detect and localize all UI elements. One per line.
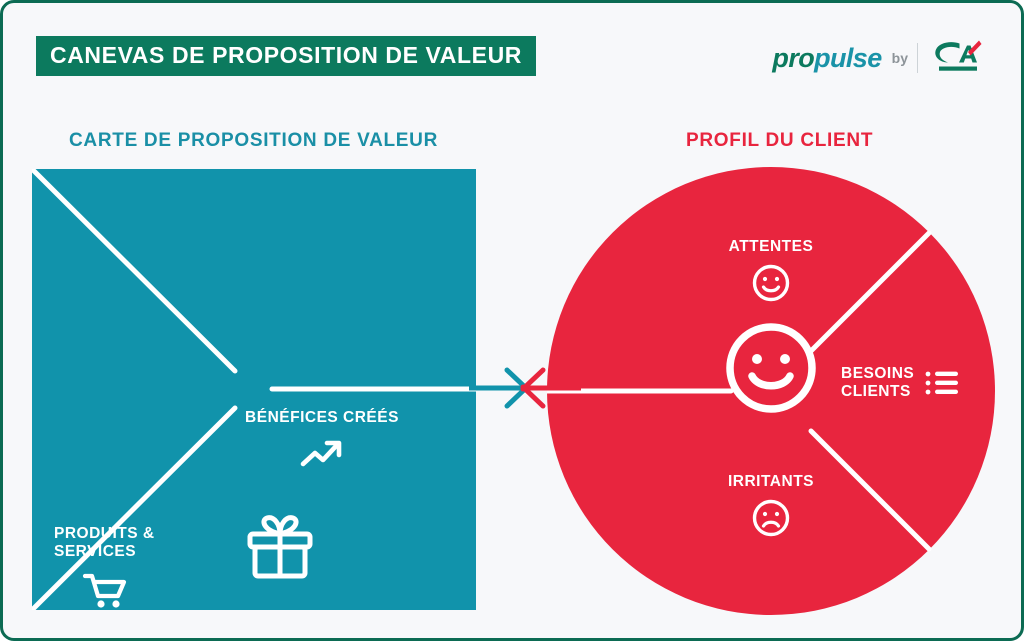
right-arrow-red bbox=[523, 370, 581, 406]
logo-word-pulse: pulse bbox=[814, 43, 882, 73]
credit-agricole-logo-icon bbox=[929, 38, 985, 78]
value-map-item-benefices: BÉNÉFICES CRÉÉS bbox=[214, 409, 430, 470]
customer-profile-item-irritants: IRRITANTS bbox=[661, 473, 881, 538]
customer-profile-label-besoins-clients: BESOINS CLIENTS bbox=[841, 365, 914, 402]
shopping-cart-icon bbox=[82, 571, 128, 611]
smiley-sad-icon bbox=[751, 498, 791, 538]
logo-wordmark: propulse bbox=[772, 45, 881, 72]
logo-word-pro: pro bbox=[772, 43, 814, 73]
section-heading-customer-profile: PROFIL DU CLIENT bbox=[686, 131, 873, 150]
logo-by-label: by bbox=[892, 51, 908, 65]
propulse-logo: propulse by bbox=[772, 36, 985, 80]
trending-up-icon bbox=[299, 436, 345, 470]
infographic-canvas: CANEVAS DE PROPOSITION DE VALEUR propuls… bbox=[0, 0, 1024, 641]
customer-profile-label-attentes: ATTENTES bbox=[729, 238, 814, 256]
section-heading-value-map: CARTE DE PROPOSITION DE VALEUR bbox=[69, 131, 438, 150]
value-map-item-produits-services: PRODUITS & SERVICES bbox=[54, 525, 192, 611]
page-title: CANEVAS DE PROPOSITION DE VALEUR bbox=[50, 44, 522, 67]
smiley-face-icon bbox=[722, 319, 820, 417]
value-proposition-map: BÉNÉFICES CRÉÉS PRODUITS & SERVICES SOLU… bbox=[32, 169, 476, 610]
list-icon bbox=[925, 368, 959, 398]
value-map-label-benefices: BÉNÉFICES CRÉÉS bbox=[245, 409, 399, 427]
gift-icon bbox=[243, 510, 317, 582]
connector-arrows bbox=[469, 359, 581, 417]
value-map-label-produits-services: PRODUITS & SERVICES bbox=[54, 525, 155, 562]
logo-divider bbox=[917, 43, 918, 73]
page-title-banner: CANEVAS DE PROPOSITION DE VALEUR bbox=[36, 36, 536, 76]
customer-profile-item-besoins-clients: BESOINS CLIENTS bbox=[841, 365, 991, 402]
customer-profile-item-attentes: ATTENTES bbox=[661, 238, 881, 303]
customer-profile-circle: ATTENTES BESOINS CLIENTS bbox=[547, 167, 995, 615]
left-arrow-teal bbox=[469, 370, 527, 406]
customer-profile-label-irritants: IRRITANTS bbox=[728, 473, 814, 491]
smiley-happy-icon bbox=[751, 263, 791, 303]
